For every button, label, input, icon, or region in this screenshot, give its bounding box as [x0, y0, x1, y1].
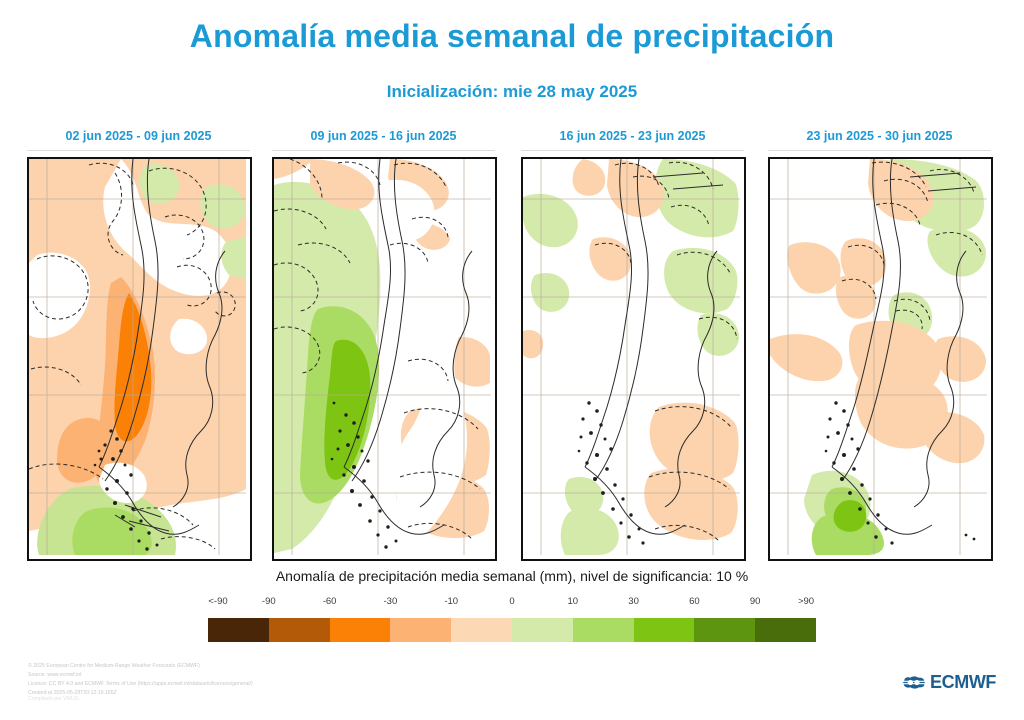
panel-title-week-3: 16 jun 2025 - 23 jun 2025 [521, 128, 744, 144]
map-panel-week-4[interactable]: 23 jun 2025 - 30 jun 2025 [768, 128, 991, 560]
colorbar-tick-2: -60 [323, 596, 337, 607]
ecmwf-cloud-icon [902, 675, 926, 690]
footer-line-1: © 2025 European Centre for Medium-Range … [28, 663, 200, 669]
map-panel-week-3[interactable]: 16 jun 2025 - 23 jun 2025 [521, 128, 744, 560]
panel-divider [27, 150, 250, 151]
colorbar-cell-2 [330, 618, 391, 642]
panel-title-week-4: 23 jun 2025 - 30 jun 2025 [768, 128, 991, 144]
colorbar-tick-0: <-90 [208, 596, 227, 607]
colorbar: <-90-90-60-30-10010306090>90 [208, 596, 816, 644]
colorbar-tick-labels: <-90-90-60-30-10010306090>90 [208, 596, 816, 612]
ecmwf-logo: ECMWF [902, 672, 996, 693]
panel-title-week-2: 09 jun 2025 - 16 jun 2025 [272, 128, 495, 144]
map-frame-week-1[interactable] [27, 157, 252, 561]
colorbar-cell-7 [634, 618, 695, 642]
map-frame-week-2[interactable] [272, 157, 497, 561]
map-canvas-week-3 [523, 159, 744, 559]
map-frame-week-3[interactable] [521, 157, 746, 561]
colorbar-cell-6 [573, 618, 634, 642]
panel-divider [768, 150, 991, 151]
footer-line-3: Licence: CC BY 4.0 and ECMWF Terms of Us… [28, 681, 253, 687]
colorbar-tick-4: -10 [444, 596, 458, 607]
colorbar-cell-1 [269, 618, 330, 642]
colorbar-cell-3 [390, 618, 451, 642]
poster-root: Anomalía media semanal de precipitación … [0, 0, 1024, 720]
copyright-block: © 2025 European Centre for Medium-Range … [28, 662, 253, 698]
colorbar-tick-7: 30 [628, 596, 639, 607]
colorbar-tick-5: 0 [509, 596, 514, 607]
initialization-subtitle: Inicialización: mie 28 may 2025 [0, 82, 1024, 102]
colorbar-cell-5 [512, 618, 573, 642]
colorbar-cell-8 [694, 618, 755, 642]
precip-anomaly-map-week-4 [770, 159, 987, 555]
footer-line-2: Source: www.ecmwf.int [28, 672, 82, 678]
colorbar-tick-6: 10 [568, 596, 579, 607]
colorbar-cell-4 [451, 618, 512, 642]
map-panel-week-2[interactable]: 09 jun 2025 - 16 jun 2025 [272, 128, 495, 560]
precip-anomaly-map-week-2 [274, 159, 491, 555]
colorbar-tick-1: -90 [262, 596, 276, 607]
colorbar-tick-9: 90 [750, 596, 761, 607]
page-title: Anomalía media semanal de precipitación [0, 18, 1024, 55]
ecmwf-logo-text: ECMWF [930, 672, 996, 693]
compiled-by-note: Compilado por VMUG [28, 696, 79, 702]
colorbar-strip [208, 618, 816, 642]
panel-title-week-1: 02 jun 2025 - 09 jun 2025 [27, 128, 250, 144]
colorbar-cell-9 [755, 618, 816, 642]
map-frame-week-4[interactable] [768, 157, 993, 561]
precip-anomaly-map-week-3 [523, 159, 740, 555]
panel-divider [272, 150, 495, 151]
precip-anomaly-map-week-1 [29, 159, 246, 555]
map-canvas-week-2 [274, 159, 495, 559]
map-canvas-week-4 [770, 159, 991, 559]
colorbar-cell-0 [208, 618, 269, 642]
colorbar-tick-3: -30 [384, 596, 398, 607]
map-panel-week-1[interactable]: 02 jun 2025 - 09 jun 2025 [27, 128, 250, 560]
map-panel-row: 02 jun 2025 - 09 jun 2025 [0, 128, 1024, 568]
colorbar-tick-10: >90 [798, 596, 814, 607]
colorbar-caption: Anomalía de precipitación media semanal … [0, 568, 1024, 584]
colorbar-tick-8: 60 [689, 596, 700, 607]
panel-divider [521, 150, 744, 151]
map-canvas-week-1 [29, 159, 250, 559]
